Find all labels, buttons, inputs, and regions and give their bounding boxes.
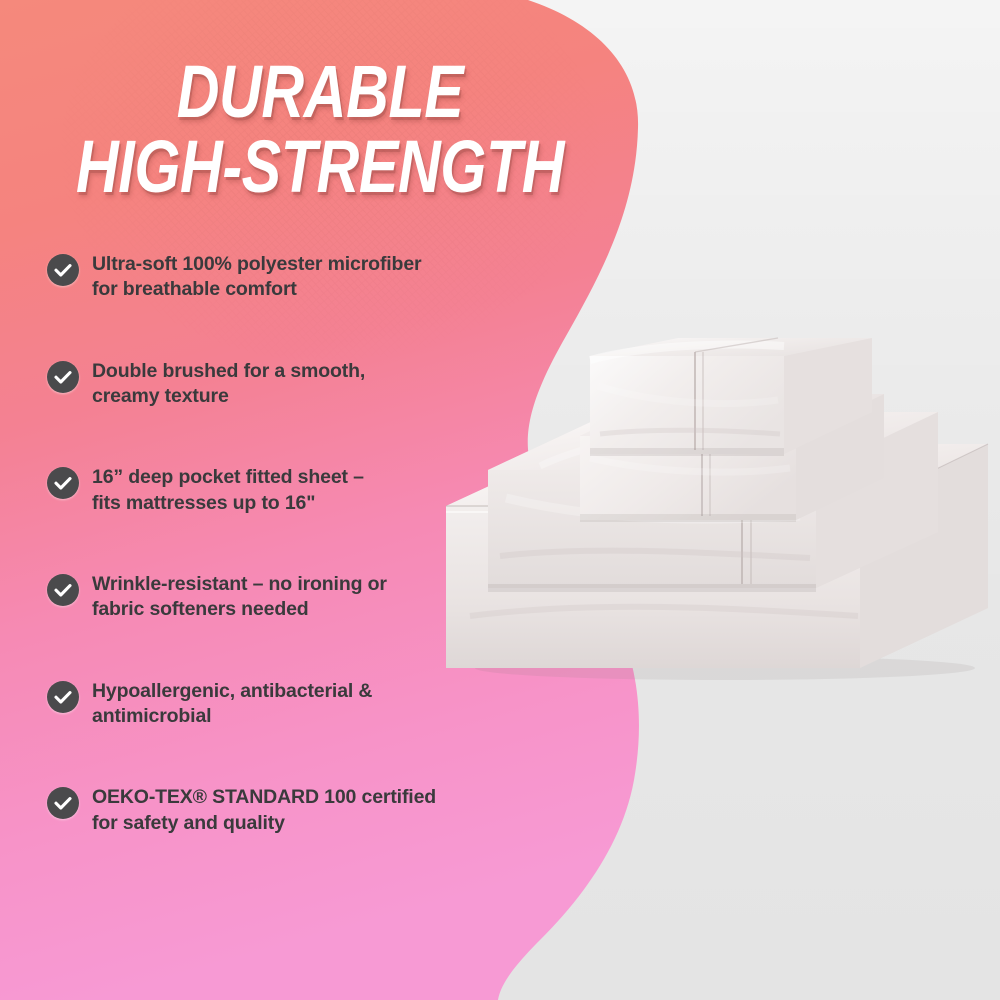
benefit-text: OEKO-TEX® STANDARD 100 certified for saf…: [92, 785, 436, 836]
list-item: Ultra-soft 100% polyester microfiber for…: [46, 252, 516, 303]
check-circle-icon: [46, 466, 80, 500]
check-circle-icon: [46, 360, 80, 394]
benefit-text: Ultra-soft 100% polyester microfiber for…: [92, 252, 421, 303]
check-circle-icon: [46, 253, 80, 287]
benefit-text: Double brushed for a smooth, creamy text…: [92, 359, 365, 410]
product-image: [440, 316, 1000, 686]
check-circle-icon: [46, 786, 80, 820]
infographic-canvas: DURABLE HIGH-STRENGTH Ultra-soft 100% po…: [0, 0, 1000, 1000]
list-item: Hypoallergenic, antibacterial & antimicr…: [46, 679, 516, 730]
benefit-text: Wrinkle-resistant – no ironing or fabric…: [92, 572, 387, 623]
check-circle-icon: [46, 573, 80, 607]
list-item: OEKO-TEX® STANDARD 100 certified for saf…: [46, 785, 516, 836]
benefit-text: Hypoallergenic, antibacterial & antimicr…: [92, 679, 372, 730]
benefit-text: 16” deep pocket fitted sheet – fits matt…: [92, 465, 364, 516]
check-circle-icon: [46, 680, 80, 714]
